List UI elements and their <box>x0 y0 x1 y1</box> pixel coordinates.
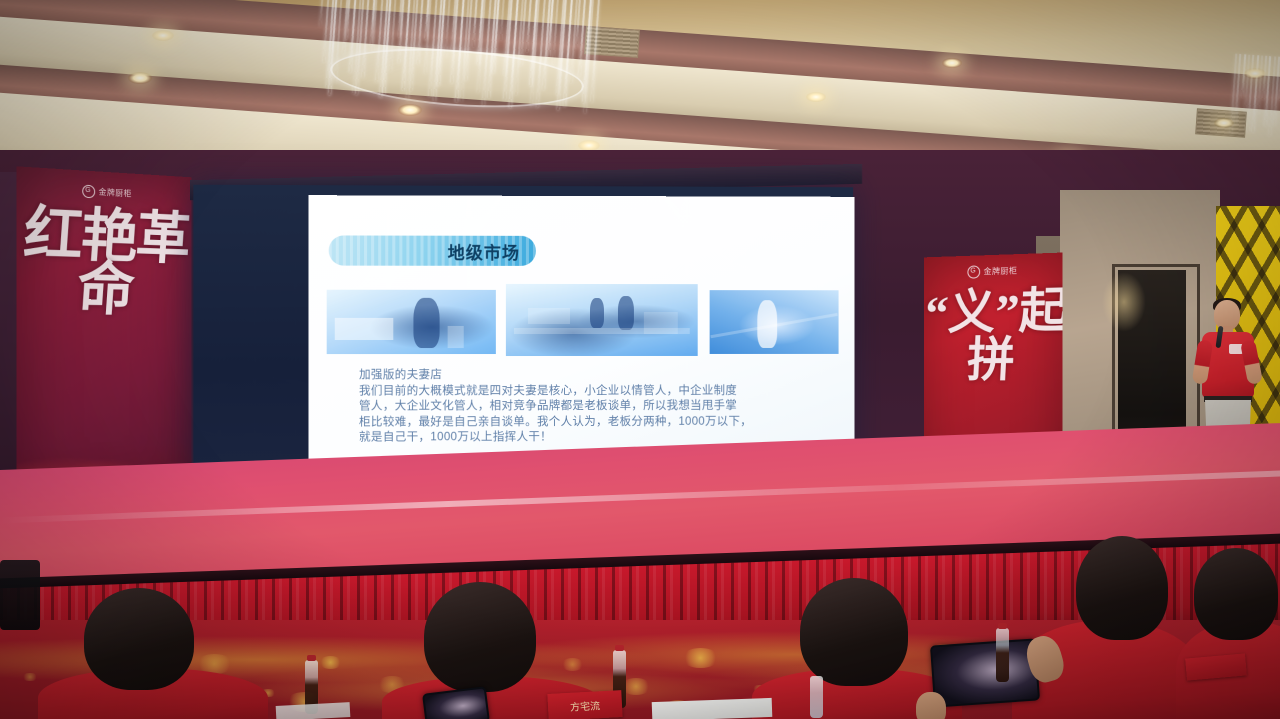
carpet-pattern-motif <box>22 673 38 682</box>
slide-heading: 加强版的夫妻店 <box>359 368 829 384</box>
attendee-phone[interactable] <box>930 638 1040 707</box>
banner-left: G 金牌厨柜 红艳革命 <box>17 166 192 513</box>
chandelier-crystal-strand <box>500 0 505 40</box>
ceiling-spotlight <box>398 104 422 116</box>
ceiling-spotlight <box>1214 118 1234 128</box>
attendee-center-left-head <box>424 582 536 692</box>
photo-man-with-tablet <box>327 290 496 354</box>
slide-body-line: 管人，大企业文化管人，相对竞争品牌都是老板谈单，所以我想当甩手掌 <box>359 399 829 415</box>
attendee-left-front-head <box>84 588 194 690</box>
water-bottle <box>996 628 1009 682</box>
ceiling-spotlight <box>152 30 174 41</box>
slide-photo-row <box>327 284 839 356</box>
brand-logo-icon: G <box>967 265 980 278</box>
phone-screen <box>424 688 487 719</box>
attendee-right-recording-head <box>1076 536 1168 640</box>
ceiling-spotlight <box>942 58 962 68</box>
slide-body-line: 柜比较难，最好是自己亲自谈单。我个人认为，老板分两种，1000万以下， <box>359 414 829 430</box>
crystal-chandelier <box>314 0 602 123</box>
attendee-far-right-head <box>1194 548 1278 640</box>
carpet-pattern-motif <box>561 658 584 671</box>
table-name-card: 方宅流 <box>547 690 622 719</box>
carpet-pattern-motif <box>682 648 719 668</box>
attendee-center-right-head <box>800 578 908 686</box>
ceiling-spotlight <box>128 72 152 84</box>
slide-body-text: 加强版的夫妻店 我们目前的大概模式就是四对夫妻是核心，小企业以情管人，中企业制度… <box>359 368 829 446</box>
banner-left-calligraphy: 红艳革命 <box>17 206 192 318</box>
photo-open-office <box>506 284 698 356</box>
wall-lamp <box>1102 272 1146 332</box>
chair-back <box>0 560 40 630</box>
ceiling-spotlight <box>806 92 826 102</box>
ceiling-spotlight <box>1244 68 1266 79</box>
photo-woman-boarding <box>710 290 839 354</box>
attendee-hand <box>916 692 946 719</box>
conference-room-photo: G 金牌厨柜 红艳革命 G 金牌厨柜 “义”起拼 地级市场 <box>0 0 1280 719</box>
phone-screen <box>932 641 1038 706</box>
bottle-cap <box>307 655 316 661</box>
slide-title: 地级市场 <box>329 235 536 265</box>
table-paper <box>652 698 773 719</box>
water-bottle <box>810 676 823 718</box>
banner-right-logo: G 金牌厨柜 <box>924 263 1063 280</box>
carpet-pattern-motif <box>319 656 342 669</box>
bottle-cap <box>998 623 1007 629</box>
slide-body-line: 我们目前的大概模式就是四对夫妻是核心，小企业以情管人，中企业制度 <box>359 383 829 399</box>
bottle-cap <box>615 645 624 651</box>
chandelier-crystal-strand <box>319 0 324 26</box>
brand-logo-icon: G <box>82 185 95 199</box>
brand-name: 金牌厨柜 <box>99 187 132 200</box>
banner-right-calligraphy: “义”起拼 <box>924 287 1063 385</box>
brand-name: 金牌厨柜 <box>984 265 1018 277</box>
table-paper <box>276 702 351 719</box>
